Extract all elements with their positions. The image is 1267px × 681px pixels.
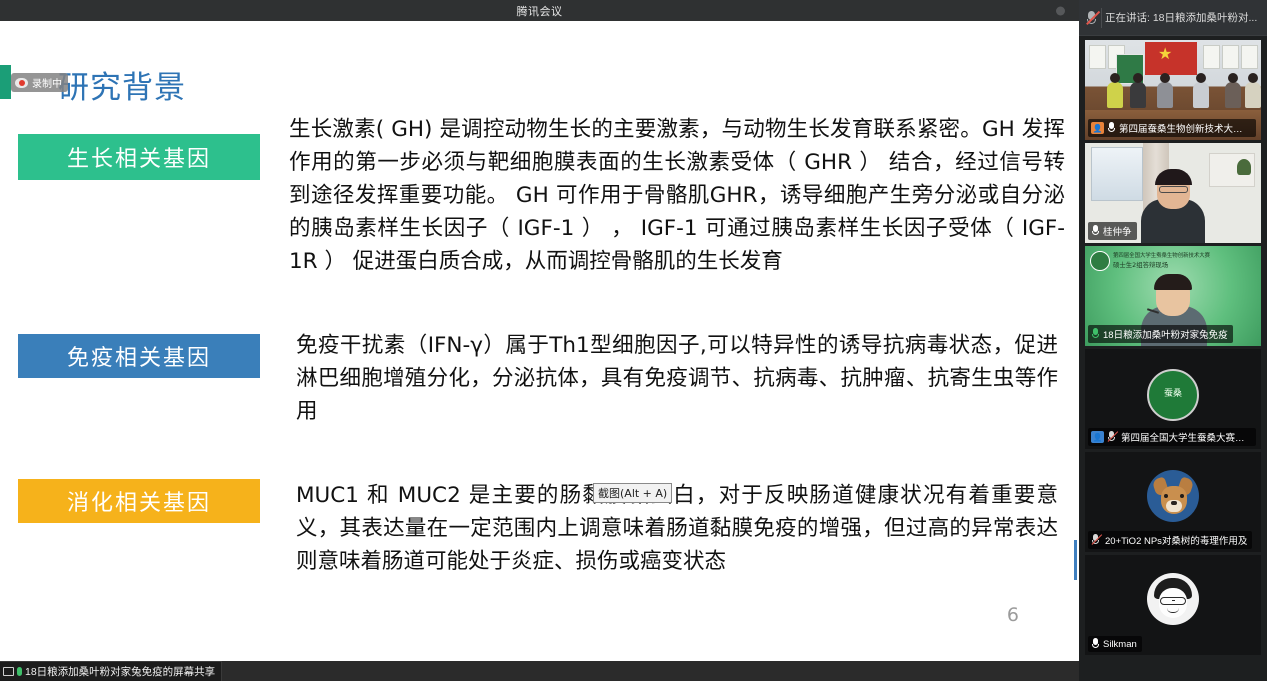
dog-avatar-icon (1147, 470, 1199, 522)
monitor-icon (3, 667, 14, 676)
cartoon-avatar-icon (1147, 573, 1199, 625)
paragraph-digestion: MUC1 和 MUC2 是主要的肠黏膜黏蛋白，对于反映肠道健康状况有着重要意义，… (296, 479, 1058, 578)
tile-3-label: 18日粮添加桑叶粉对家兔免疫 (1103, 327, 1228, 341)
window-titlebar: 腾讯会议 (0, 0, 1079, 21)
avatar-badge-icon: 👤 (1091, 122, 1104, 134)
header-divider (1101, 8, 1102, 28)
video-tile-3-active-speaker[interactable]: 第四届全国大学生蚕桑生物创新技术大赛 硕士生2组答辩现场 18日粮添加桑叶粉对家… (1085, 246, 1261, 346)
title-accent-bar (0, 65, 11, 99)
panel-scrollbar[interactable] (1074, 540, 1077, 580)
tile-6-nameplate: Silkman (1088, 636, 1142, 652)
tile-1-nameplate: 👤 第四届蚕桑生物创新技术大赛硕... (1088, 119, 1256, 137)
app-title: 腾讯会议 (517, 3, 563, 19)
mic-muted-icon (1107, 431, 1118, 443)
screenshot-tooltip: 截图(Alt + A) (593, 483, 672, 503)
taskbar-item-screenshare[interactable]: 18日粮添加桑叶粉对家兔免疫的屏幕共享 (0, 661, 222, 681)
tile-3-nameplate: 18日粮添加桑叶粉对家兔免疫 (1088, 325, 1233, 343)
tile-2-nameplate: 桂仲争 (1088, 222, 1137, 240)
slide-page-number: 6 (1007, 604, 1019, 626)
active-speaker-label: 正在讲话: 18日粮添加桑叶粉对... (1105, 10, 1257, 25)
recording-badge-label: 录制中 (32, 75, 62, 90)
video-tile-5[interactable]: 20+TiO2 NPs对桑树的毒理作用及 (1085, 452, 1261, 552)
tile-5-label: 20+TiO2 NPs对桑树的毒理作用及 (1105, 533, 1247, 547)
tile-2-label: 桂仲争 (1103, 224, 1132, 238)
chip-digestion-genes: 消化相关基因 (18, 479, 260, 523)
video-tile-4[interactable]: 蚕桑 👤 第四届全国大学生蚕桑大赛硕士... (1085, 349, 1261, 449)
paragraph-growth: 生长激素( GH) 是调控动物生长的主要激素，与动物生长发育联系紧密。GH 发挥… (289, 113, 1065, 278)
taskbar: 18日粮添加桑叶粉对家兔免疫的屏幕共享 (0, 661, 1079, 681)
university-logo-icon: 蚕桑 (1147, 369, 1199, 421)
participant-panel: 正在讲话: 18日粮添加桑叶粉对... (1079, 0, 1267, 681)
mic-icon (17, 667, 22, 676)
video-tile-list: 👤 第四届蚕桑生物创新技术大赛硕... (1079, 36, 1267, 655)
titlebar-menu-dot-icon[interactable] (1056, 6, 1065, 15)
university-logo-text: 蚕桑 (1164, 390, 1182, 400)
mic-muted-icon[interactable] (1085, 10, 1098, 26)
tile-6-label: Silkman (1103, 639, 1137, 650)
shared-slide-area: 研究背景 录制中 生长相关基因 免疫相关基因 消化相关基因 生长激素( GH) … (0, 21, 1079, 644)
taskbar-item-label: 18日粮添加桑叶粉对家兔免疫的屏幕共享 (25, 664, 215, 679)
mic-on-icon (1091, 225, 1100, 237)
tile-5-nameplate: 20+TiO2 NPs对桑树的毒理作用及 (1088, 531, 1252, 549)
tile-4-label: 第四届全国大学生蚕桑大赛硕士... (1121, 430, 1251, 444)
chip-immune-genes: 免疫相关基因 (18, 334, 260, 378)
tile-4-nameplate: 👤 第四届全国大学生蚕桑大赛硕士... (1088, 428, 1256, 446)
chip-digestion-label: 消化相关基因 (67, 485, 211, 517)
paragraph-immune: 免疫干扰素（IFN-γ）属于Th1型细胞因子,可以特异性的诱导抗病毒状态，促进淋… (296, 329, 1058, 428)
chip-immune-label: 免疫相关基因 (67, 340, 211, 372)
recording-badge[interactable]: 录制中 (11, 73, 68, 92)
panel-header: 正在讲话: 18日粮添加桑叶粉对... (1079, 0, 1267, 36)
video-tile-1[interactable]: 👤 第四届蚕桑生物创新技术大赛硕... (1085, 40, 1261, 140)
video-tile-6[interactable]: Silkman (1085, 555, 1261, 655)
page-title: 研究背景 (58, 62, 186, 107)
chip-growth-genes: 生长相关基因 (18, 134, 260, 180)
mic-on-green-icon (1091, 328, 1100, 340)
tile-1-label: 第四届蚕桑生物创新技术大赛硕... (1119, 121, 1251, 135)
mic-muted-icon (1091, 534, 1102, 546)
mic-on-icon (1107, 122, 1116, 134)
video-tile-2[interactable]: 桂仲争 (1085, 143, 1261, 243)
chip-growth-label: 生长相关基因 (67, 141, 211, 173)
record-dot-icon (15, 78, 28, 88)
mic-on-icon (1091, 638, 1100, 650)
avatar-badge-icon: 👤 (1091, 431, 1104, 443)
meeting-screen-share-window: 腾讯会议 研究背景 录制中 生长相关基因 免疫相关基因 消化相关基因 生长激素(… (0, 0, 1267, 681)
